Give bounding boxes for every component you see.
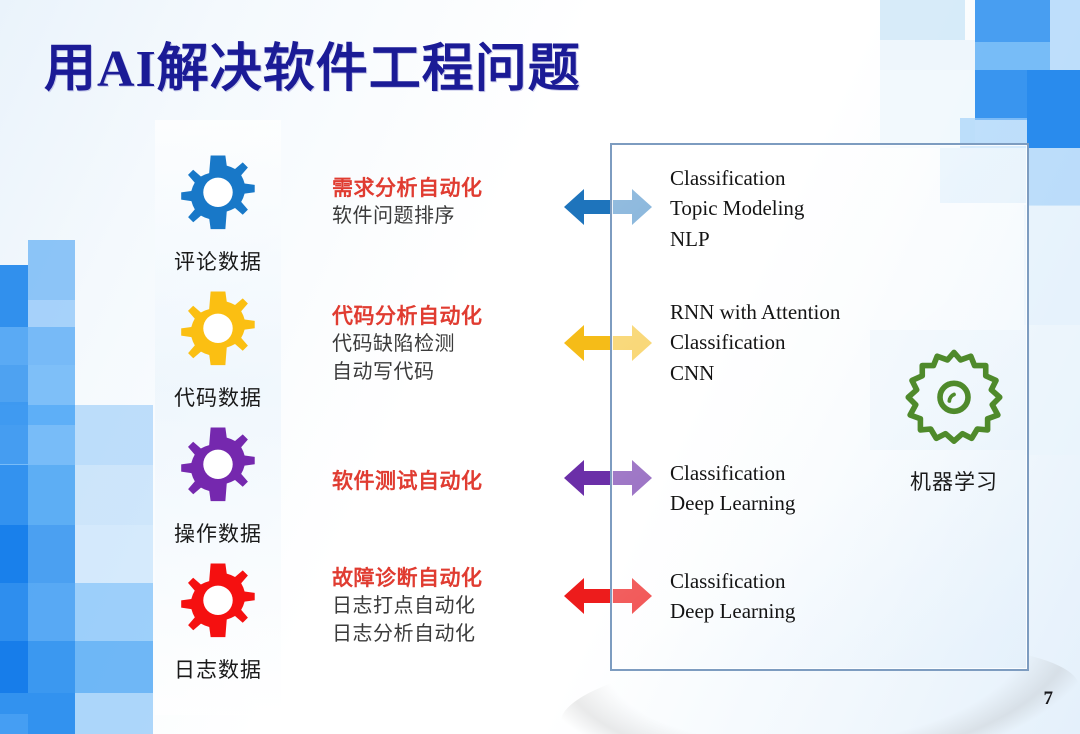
data-source-label: 日志数据 <box>155 654 281 684</box>
data-source-label: 代码数据 <box>155 382 281 412</box>
data-source-label: 操作数据 <box>155 518 281 548</box>
machine-learning-label: 机器学习 <box>884 466 1024 496</box>
method-line: Classification <box>670 458 795 488</box>
task-item: 需求分析自动化 软件问题排序 <box>332 172 552 230</box>
gear-icon <box>155 284 281 380</box>
gear-outline-icon <box>884 345 1024 462</box>
method-line: CNN <box>670 358 840 388</box>
gear-icon <box>155 148 281 244</box>
method-line: Topic Modeling <box>670 193 804 223</box>
data-source-item[interactable]: 评论数据 <box>155 148 281 276</box>
task-heading: 代码分析自动化 <box>332 300 552 330</box>
gear-icon <box>155 420 281 516</box>
task-item: 软件测试自动化 <box>332 465 552 495</box>
data-source-column: 评论数据 代码数据 <box>155 120 281 715</box>
method-line: Classification <box>670 163 804 193</box>
method-group: Classification Deep Learning <box>670 458 795 519</box>
data-source-item[interactable]: 代码数据 <box>155 284 281 412</box>
method-group: Classification Topic Modeling NLP <box>670 163 804 254</box>
task-item: 代码分析自动化 代码缺陷检测 自动写代码 <box>332 300 552 387</box>
data-source-item[interactable]: 操作数据 <box>155 420 281 548</box>
task-item: 故障诊断自动化 日志打点自动化 日志分析自动化 <box>332 562 552 649</box>
slide-canvas: 用AI解决软件工程问题 评论数据 <box>0 0 1080 734</box>
gear-icon <box>155 556 281 652</box>
data-source-label: 评论数据 <box>155 246 281 276</box>
page-number: 7 <box>1044 688 1054 710</box>
method-line: Deep Learning <box>670 596 795 626</box>
method-line: Classification <box>670 327 840 357</box>
page-title: 用AI解决软件工程问题 <box>44 26 581 101</box>
task-detail: 自动写代码 <box>332 358 552 386</box>
task-heading: 软件测试自动化 <box>332 465 552 495</box>
task-detail: 日志打点自动化 <box>332 592 552 620</box>
task-heading: 需求分析自动化 <box>332 172 552 202</box>
task-detail: 日志分析自动化 <box>332 620 552 648</box>
method-group: RNN with Attention Classification CNN <box>670 297 840 388</box>
method-line: NLP <box>670 224 804 254</box>
machine-learning-block: 机器学习 <box>884 345 1024 496</box>
task-detail: 软件问题排序 <box>332 202 552 230</box>
method-line: Deep Learning <box>670 488 795 518</box>
method-group: Classification Deep Learning <box>670 566 795 627</box>
method-line: Classification <box>670 566 795 596</box>
methods-panel: Classification Topic Modeling NLP RNN wi… <box>610 143 1029 671</box>
method-line: RNN with Attention <box>670 297 840 327</box>
task-detail: 代码缺陷检测 <box>332 330 552 358</box>
data-source-item[interactable]: 日志数据 <box>155 556 281 684</box>
task-heading: 故障诊断自动化 <box>332 562 552 592</box>
